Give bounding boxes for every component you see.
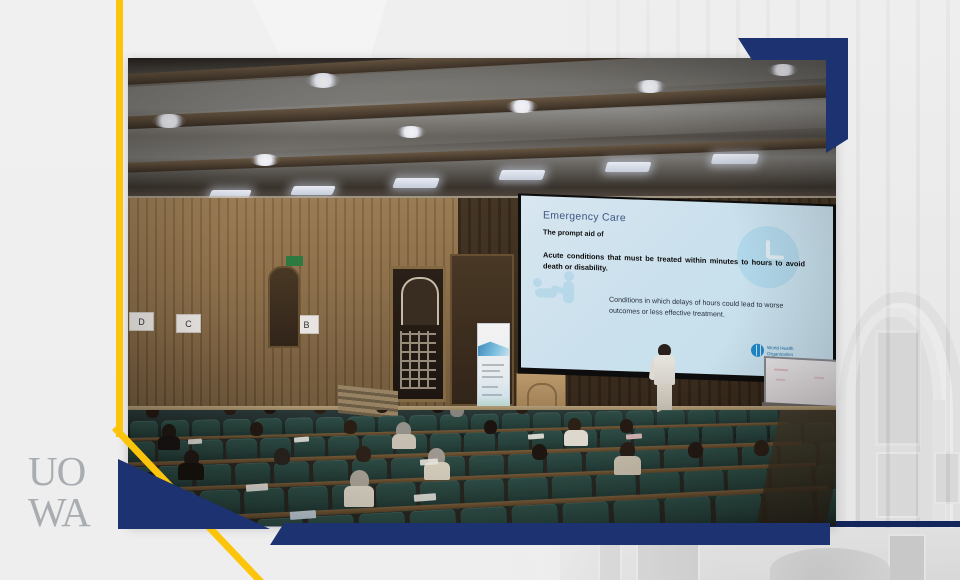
calligraphy-arch: [401, 277, 439, 325]
attendee-head: [754, 440, 769, 456]
attendee-head: [484, 420, 497, 434]
attendee-head-hijab: [274, 448, 290, 465]
ceiling-panel-light-2: [290, 186, 336, 195]
door-left[interactable]: [268, 266, 300, 348]
slide-title: Emergency Care: [543, 209, 626, 224]
notebook: [188, 439, 202, 445]
ceiling-panel-light-5: [605, 162, 652, 172]
attendee-head: [620, 419, 633, 433]
downlight-6: [634, 80, 666, 93]
presenter-trousers: [657, 384, 672, 412]
rollup-banner: [477, 323, 510, 417]
downlight-5: [506, 100, 538, 113]
presenter: [654, 344, 675, 410]
attendee-torso-light: [392, 434, 416, 449]
attendee-torso-light: [564, 430, 588, 446]
attendee-head: [376, 410, 388, 413]
attendee-head: [356, 446, 371, 462]
banner-text-line-4: [482, 386, 498, 388]
slide-subtitle: The prompt aid of: [543, 227, 604, 238]
notebook: [294, 436, 309, 442]
figure-head-2: [564, 271, 574, 281]
attendee-head: [250, 422, 263, 436]
banner-text-line-1: [482, 364, 504, 366]
whiteboard-mark-3: [814, 377, 824, 380]
seat: [511, 503, 560, 526]
attendee-head: [432, 410, 444, 413]
ceiling-panel-light-4: [498, 170, 545, 180]
downlight-4: [396, 126, 426, 138]
yellow-stripe-vertical: [116, 0, 123, 437]
downlight-1: [152, 114, 186, 128]
ceiling-panel-light-6: [711, 154, 759, 164]
banner-text-line-5: [482, 394, 502, 396]
uowa-logo-line1: UO: [28, 448, 85, 494]
banner-wave: [478, 340, 509, 356]
navy-underline-bar: [270, 523, 830, 545]
attendee-torso-light: [344, 486, 374, 507]
exit-sign: [286, 256, 303, 266]
figure-head-1: [533, 278, 542, 287]
audience-seating: [128, 410, 836, 526]
attendee-head: [224, 410, 236, 415]
row-marker-c: C: [176, 314, 201, 333]
attendee-head: [344, 420, 357, 434]
attendee-torso-light: [614, 456, 641, 475]
seat: [562, 501, 611, 526]
attendee-head: [688, 442, 703, 458]
calligraphy-panel: [390, 266, 446, 402]
attendee-head: [146, 410, 159, 418]
notebook: [420, 458, 438, 465]
ceiling-panel-light-3: [392, 178, 440, 188]
whiteboard-mark-1: [774, 368, 788, 371]
presentation-slide: Emergency Care The prompt aid of Acute c…: [521, 196, 833, 379]
banner-text-line-3: [482, 376, 503, 378]
seat: [613, 498, 662, 526]
whiteboard-mark-2: [776, 379, 785, 381]
seat: [664, 495, 713, 526]
poster-canvas: D C B A: [0, 0, 960, 580]
attendee-torso: [178, 463, 204, 480]
uowa-logo-line2: WA: [28, 493, 148, 531]
lecture-hall-photo: D C B A: [128, 58, 836, 526]
calligraphy-grid: [400, 331, 436, 389]
downlight-2: [306, 73, 340, 88]
downlight-3: [250, 154, 280, 166]
attendee-head: [264, 410, 276, 414]
downlight-7: [768, 64, 798, 76]
attendee-head: [532, 444, 547, 460]
who-globe-icon: [751, 344, 764, 357]
row-marker-d: D: [129, 312, 154, 331]
navy-corner-bracket-vertical: [826, 38, 848, 153]
attendee-torso: [158, 436, 180, 450]
banner-text-line-2: [482, 370, 500, 372]
presenter-shirt: [654, 355, 675, 385]
uowa-logo: UO WA: [28, 452, 148, 531]
attendee-head: [314, 410, 326, 414]
slide-body-secondary: Conditions in which delays of hours coul…: [609, 295, 799, 324]
